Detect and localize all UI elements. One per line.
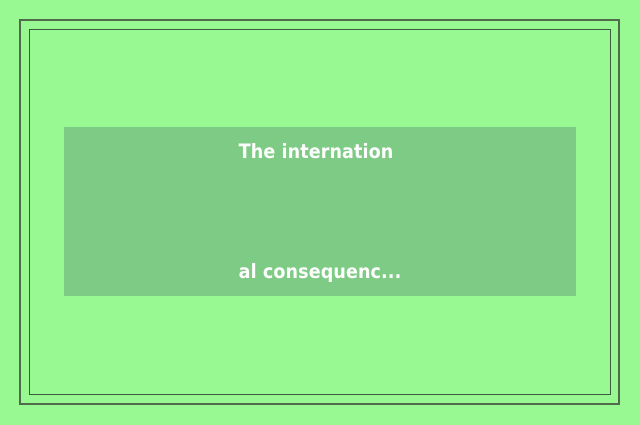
card-title: The internation al consequenc...	[239, 52, 402, 372]
card-title-line-1: The internation	[239, 132, 402, 172]
card-title-line-2: al consequenc...	[239, 252, 402, 292]
text-card-panel: The internation al consequenc...	[64, 127, 576, 296]
image-canvas: The internation al consequenc...	[0, 0, 640, 425]
